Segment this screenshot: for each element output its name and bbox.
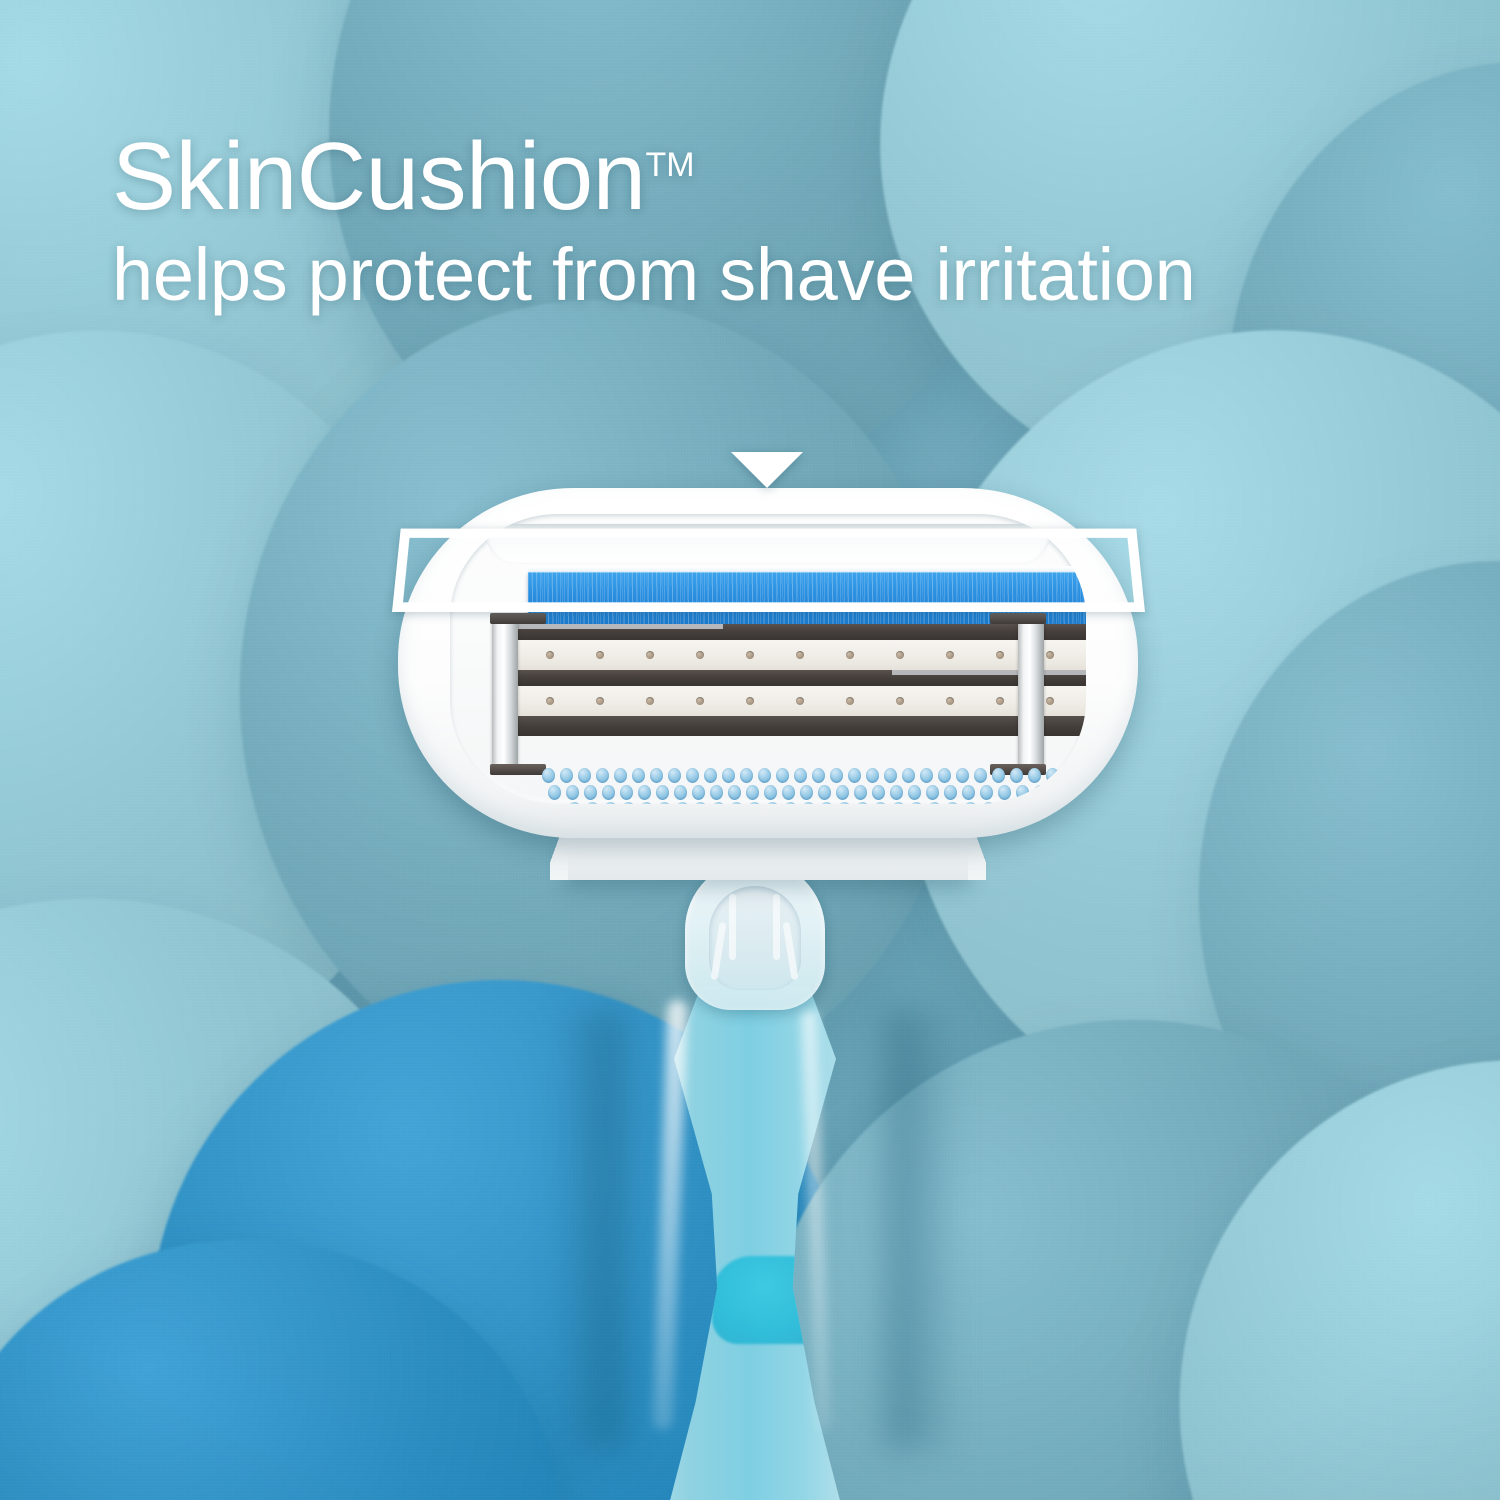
comb-dot — [980, 785, 993, 800]
comb-dot — [848, 768, 861, 783]
comb-dot — [926, 785, 939, 800]
comb-dot — [944, 785, 957, 800]
comb-dot — [872, 785, 885, 800]
comb-dot — [710, 785, 723, 800]
comb-dot — [542, 768, 555, 783]
comb-dot — [920, 768, 933, 783]
comb-dot — [1046, 768, 1059, 783]
comb-dot — [992, 768, 1005, 783]
comb-dot — [964, 802, 977, 804]
comb-dot — [908, 785, 921, 800]
blade-perforation — [946, 697, 954, 705]
blade-perforation — [596, 651, 604, 659]
blade-perforation — [646, 697, 654, 705]
comb-dot — [604, 802, 617, 804]
blade-perforation — [846, 651, 854, 659]
comb-dot — [856, 802, 869, 804]
handle-highlight-left — [653, 1000, 688, 1430]
comb-dot — [776, 768, 789, 783]
comb-dot-row — [548, 785, 1086, 800]
blade-perforation — [746, 697, 754, 705]
blade-perforation — [896, 651, 904, 659]
blade-spacer — [518, 640, 1086, 670]
comb-dot — [548, 785, 561, 800]
comb-dot — [1072, 802, 1085, 804]
comb-dot — [1028, 768, 1041, 783]
comb-dot — [938, 768, 951, 783]
comb-dot — [686, 768, 699, 783]
comb-dot — [800, 785, 813, 800]
handle-shadow-right — [886, 1010, 960, 1450]
comb-dot — [560, 768, 573, 783]
comb-dot — [692, 785, 705, 800]
blade-perforation — [796, 697, 804, 705]
comb-dot — [1000, 802, 1013, 804]
comb-dot — [866, 768, 879, 783]
blade-perforation — [546, 697, 554, 705]
blade-spacer — [518, 686, 1086, 716]
comb-dot — [962, 785, 975, 800]
comb-dot — [1082, 768, 1086, 783]
comb-dot — [676, 802, 689, 804]
comb-dot-row — [542, 768, 1086, 783]
comb-dot — [998, 785, 1011, 800]
comb-dot — [638, 785, 651, 800]
blade-perforation — [746, 651, 754, 659]
comb-dot — [854, 785, 867, 800]
blade-perforation — [996, 697, 1004, 705]
blade-clip-cap — [990, 613, 1046, 624]
blade-perforation — [546, 651, 554, 659]
feature-callout-box — [392, 529, 1145, 612]
comb-dot — [614, 768, 627, 783]
comb-dot — [902, 768, 915, 783]
comb-dot — [1070, 785, 1083, 800]
micro-comb-dot-grid — [542, 768, 1086, 804]
product-marketing-image: SkinCushionTM helps protect from shave i… — [0, 0, 1500, 1500]
blade-perforation — [696, 697, 704, 705]
comb-dot — [632, 768, 645, 783]
blade-clip-cap — [490, 613, 546, 624]
comb-dot — [640, 802, 653, 804]
comb-dot — [1034, 785, 1047, 800]
comb-dot — [784, 802, 797, 804]
comb-dot — [578, 768, 591, 783]
comb-dot — [892, 802, 905, 804]
comb-dot — [874, 802, 887, 804]
comb-dot — [802, 802, 815, 804]
comb-dot — [712, 802, 725, 804]
comb-dot — [650, 768, 663, 783]
blade-perforation — [596, 697, 604, 705]
blade-clip-left — [492, 620, 518, 772]
blade-perforation — [1046, 697, 1054, 705]
comb-dot — [836, 785, 849, 800]
handle-connector-rib — [773, 894, 780, 960]
blade-cassette — [518, 624, 1086, 764]
down-triangle-icon — [731, 452, 803, 488]
comb-dot — [622, 802, 635, 804]
comb-dot — [764, 785, 777, 800]
razor-product — [0, 0, 1500, 1500]
comb-dot — [568, 802, 581, 804]
comb-dot — [668, 768, 681, 783]
blade-perforation — [846, 697, 854, 705]
comb-dot — [758, 768, 771, 783]
comb-dot — [1036, 802, 1049, 804]
comb-dot — [722, 768, 735, 783]
comb-dot — [890, 785, 903, 800]
comb-dot — [586, 802, 599, 804]
comb-dot — [620, 785, 633, 800]
blade-perforation — [946, 651, 954, 659]
blade-edge — [518, 670, 1086, 686]
comb-dot — [812, 768, 825, 783]
blade-clip-right — [1018, 620, 1044, 772]
comb-dot — [818, 785, 831, 800]
blade-clip-cap — [490, 764, 546, 775]
comb-dot-row — [568, 802, 1086, 804]
blade-perforation — [646, 651, 654, 659]
comb-dot — [584, 785, 597, 800]
comb-dot — [694, 802, 707, 804]
comb-dot — [982, 802, 995, 804]
comb-dot — [766, 802, 779, 804]
comb-dot — [838, 802, 851, 804]
blade-perforation — [896, 697, 904, 705]
comb-dot — [1010, 768, 1023, 783]
blade-perforation — [1046, 651, 1054, 659]
blade-edge — [518, 624, 1086, 640]
comb-dot — [974, 768, 987, 783]
comb-dot — [910, 802, 923, 804]
comb-dot — [1018, 802, 1031, 804]
comb-dot — [596, 768, 609, 783]
comb-dot — [658, 802, 671, 804]
comb-dot — [728, 785, 741, 800]
comb-dot — [746, 785, 759, 800]
comb-dot — [1064, 768, 1077, 783]
comb-dot — [656, 785, 669, 800]
comb-dot — [956, 768, 969, 783]
handle-connector-rib — [729, 894, 736, 960]
handle-shadow-left — [554, 1010, 624, 1450]
comb-dot — [602, 785, 615, 800]
blade-perforation — [996, 651, 1004, 659]
comb-dot — [1016, 785, 1029, 800]
comb-dot — [1054, 802, 1067, 804]
comb-dot — [674, 785, 687, 800]
comb-dot — [884, 768, 897, 783]
comb-dot — [566, 785, 579, 800]
comb-dot — [730, 802, 743, 804]
comb-dot — [946, 802, 959, 804]
comb-dot — [740, 768, 753, 783]
comb-dot — [928, 802, 941, 804]
comb-dot — [704, 768, 717, 783]
comb-dot — [782, 785, 795, 800]
blade-edge — [518, 716, 1086, 736]
comb-dot — [748, 802, 761, 804]
comb-dot — [830, 768, 843, 783]
razor-handle — [590, 860, 920, 1500]
comb-dot — [794, 768, 807, 783]
comb-dot — [1052, 785, 1065, 800]
comb-dot — [820, 802, 833, 804]
blade-perforation — [796, 651, 804, 659]
blade-perforation — [696, 651, 704, 659]
